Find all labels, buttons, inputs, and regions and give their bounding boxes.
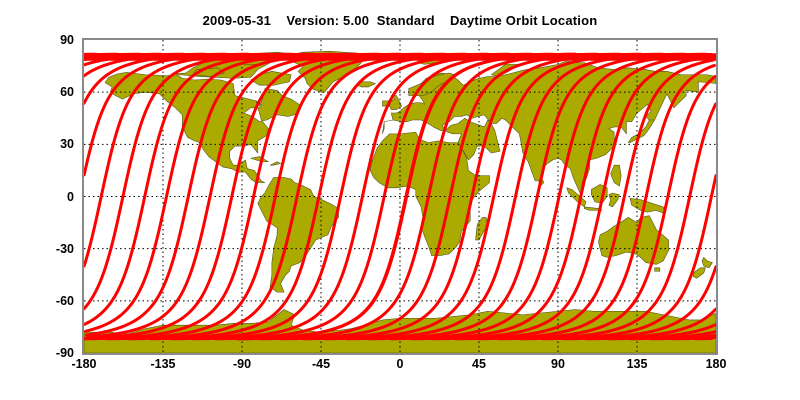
landmass-new-zealand-n	[702, 257, 713, 267]
x-tick-label: -135	[150, 357, 175, 371]
y-tick-label: 90	[60, 33, 74, 47]
x-tick-label: -90	[233, 357, 251, 371]
y-tick-label: -30	[56, 242, 74, 256]
y-tick-label: -60	[56, 294, 74, 308]
map-plot-area	[82, 38, 718, 355]
y-axis-latitude: -90-60-300306090	[30, 38, 78, 355]
orbit-location-figure: 2009-05-31 Version: 5.00 Standard Daytim…	[0, 0, 800, 400]
x-tick-label: 180	[706, 357, 727, 371]
x-tick-label: 135	[627, 357, 648, 371]
y-tick-label: 60	[60, 85, 74, 99]
x-tick-label: 90	[551, 357, 565, 371]
landmass-hispaniola	[270, 162, 281, 165]
x-tick-label: -180	[71, 357, 96, 371]
x-tick-label: -45	[312, 357, 330, 371]
landmass-cuba	[251, 157, 269, 162]
x-axis-longitude: -180-135-90-4504590135180	[82, 357, 718, 379]
y-tick-label: 30	[60, 137, 74, 151]
landmass-tasmania	[655, 268, 660, 271]
y-tick-label: 0	[67, 190, 74, 204]
landmass-new-guinea	[630, 198, 665, 214]
landmass-sulawesi	[609, 193, 620, 207]
page-title: 2009-05-31 Version: 5.00 Standard Daytim…	[0, 13, 800, 28]
world-map	[84, 40, 716, 353]
landmass-philippines	[611, 165, 622, 186]
x-tick-label: 45	[472, 357, 486, 371]
landmass-new-zealand-s	[693, 268, 705, 278]
x-tick-label: 0	[397, 357, 404, 371]
